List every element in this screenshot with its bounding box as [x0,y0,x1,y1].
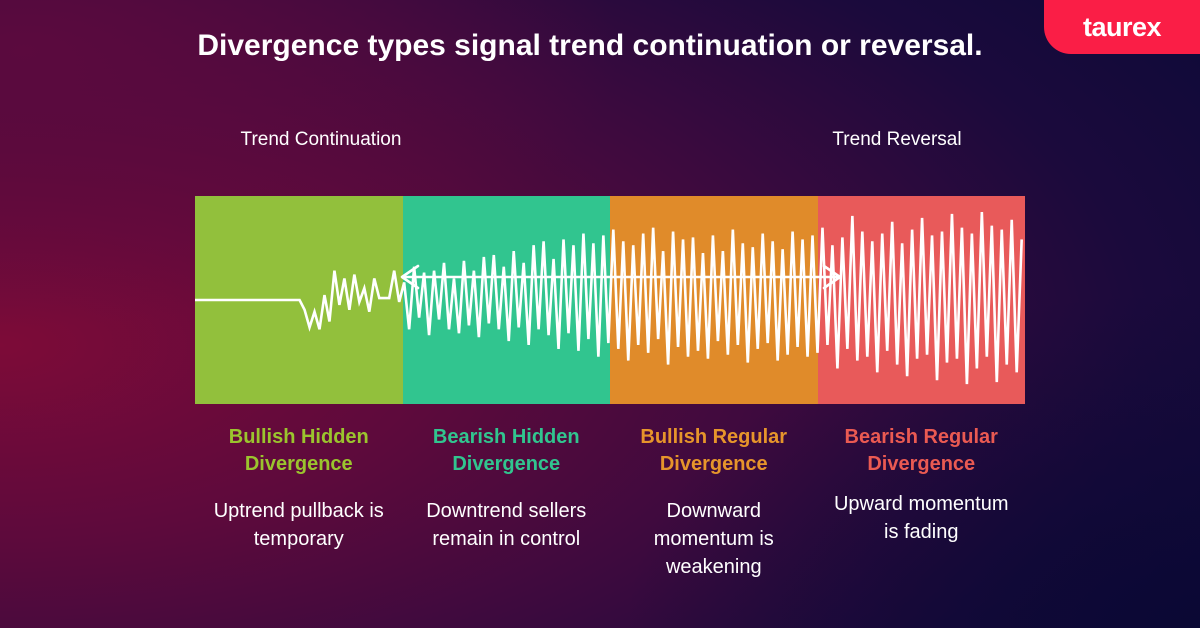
column-title: Bullish Regular Divergence [618,424,810,477]
axis-label-trend-continuation: Trend Continuation [236,126,406,154]
column-title: Bearish Hidden Divergence [411,424,603,477]
column-bullish-regular-divergence: Bullish Regular Divergence Downward mome… [610,424,818,620]
column-title: Bullish Hidden Divergence [203,424,395,477]
column-bearish-regular-divergence: Bearish Regular Divergence Upward moment… [818,424,1026,620]
chart-band-bearish-regular [818,196,1026,404]
column-description: Uptrend pullback is temporary [203,497,395,553]
taurex-logo-badge: taurex [1044,0,1200,54]
chart-band-bullish-regular [610,196,818,404]
column-description: Downtrend sellers remain in control [411,497,603,553]
double-headed-arrow-icon [396,262,846,292]
chart-band-bullish-hidden [195,196,403,404]
column-description: Downward momentum is weakening [618,497,810,581]
legend-columns: Bullish Hidden Divergence Uptrend pullba… [195,424,1025,620]
axis-label-trend-reversal: Trend Reversal [812,126,982,154]
chart-band-bearish-hidden [403,196,611,404]
column-bearish-hidden-divergence: Bearish Hidden Divergence Downtrend sell… [403,424,611,620]
divergence-chart [195,196,1025,404]
column-title: Bearish Regular Divergence [826,424,1018,477]
page-title: Divergence types signal trend continuati… [180,26,1000,67]
infographic-canvas: taurex Divergence types signal trend con… [0,0,1200,628]
column-description: Upward momentum is fading [826,490,1018,546]
logo-text: taurex [1083,14,1161,41]
column-bullish-hidden-divergence: Bullish Hidden Divergence Uptrend pullba… [195,424,403,620]
axis-row: Trend Continuation Trend Reversal [0,124,1200,184]
